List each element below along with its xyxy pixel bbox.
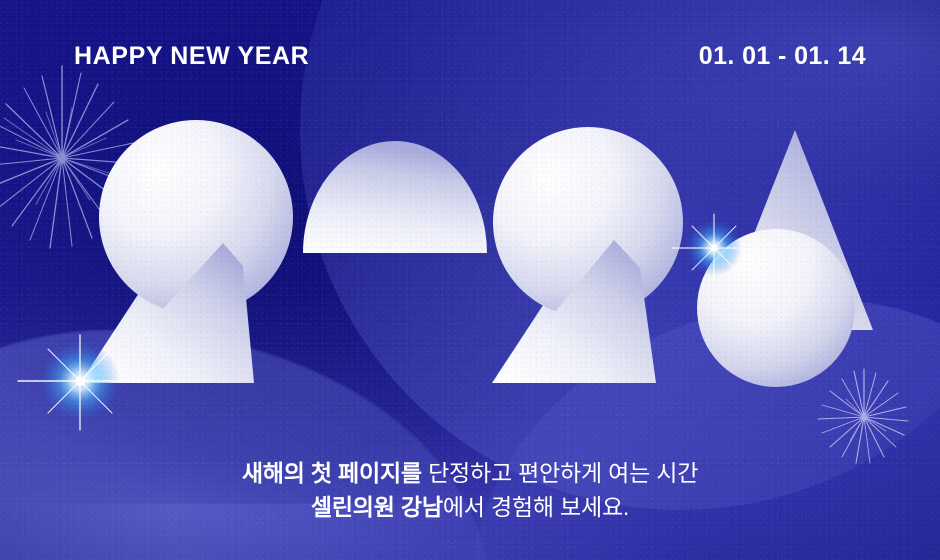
new-year-promo-banner: HAPPY NEW YEAR 01. 01 - 01. 14 새해의 첫 페이지… bbox=[0, 0, 940, 560]
vignette-overlay bbox=[0, 0, 940, 560]
